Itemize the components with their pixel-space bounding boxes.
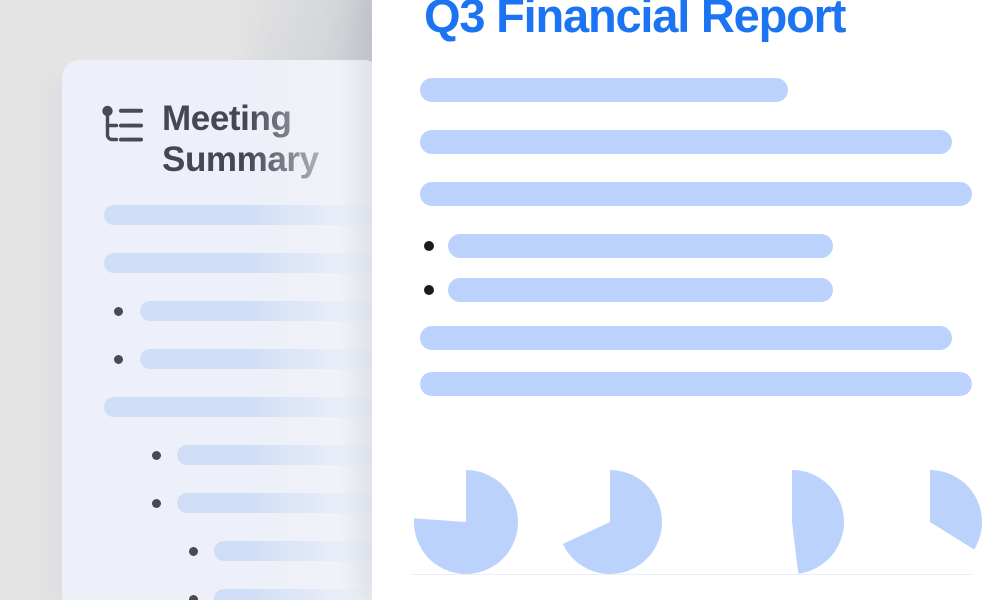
pie-slice — [930, 470, 982, 550]
report-title: Q3 Financial Report — [424, 0, 845, 43]
text-placeholder-bar — [214, 589, 372, 600]
pie-chart-2 — [558, 470, 662, 574]
meeting-summary-header: Meeting Summary — [98, 98, 382, 181]
list-item — [372, 78, 1000, 102]
list-item — [62, 493, 382, 513]
list-item — [62, 253, 382, 273]
list-item — [372, 234, 1000, 258]
pie-chart-row — [372, 446, 1000, 556]
text-placeholder-bar — [420, 326, 952, 350]
text-placeholder-bar — [420, 130, 952, 154]
text-placeholder-bar — [214, 541, 372, 561]
list-item — [372, 326, 1000, 350]
list-item — [62, 445, 382, 465]
page-divider — [412, 574, 972, 575]
bullet-icon — [152, 451, 161, 460]
list-item — [372, 372, 1000, 396]
bullet-icon — [152, 499, 161, 508]
financial-report-page[interactable]: Q3 Financial Report — [372, 0, 1000, 600]
text-placeholder-bar — [104, 397, 372, 417]
text-placeholder-bar — [140, 301, 372, 321]
text-placeholder-bar — [104, 205, 372, 225]
meeting-summary-card[interactable]: Meeting Summary — [62, 60, 382, 600]
pie-slice — [792, 470, 844, 574]
bullet-icon — [189, 547, 198, 556]
text-placeholder-bar — [177, 493, 372, 513]
list-tree-icon — [98, 102, 144, 148]
pie-chart-4 — [878, 470, 982, 574]
list-item — [372, 278, 1000, 302]
list-item — [62, 541, 382, 561]
list-item — [372, 182, 1000, 206]
screenshot-canvas: Meeting Summary Q3 Financial Report — [0, 0, 1000, 600]
text-placeholder-bar — [177, 445, 372, 465]
bullet-icon — [424, 241, 434, 251]
bullet-icon — [114, 355, 123, 364]
list-item — [62, 589, 382, 600]
text-placeholder-bar — [420, 182, 972, 206]
text-placeholder-bar — [448, 234, 833, 258]
list-item — [372, 130, 1000, 154]
text-placeholder-bar — [420, 78, 788, 102]
bullet-icon — [424, 285, 434, 295]
text-placeholder-bar — [420, 372, 972, 396]
pie-slice — [414, 470, 518, 574]
pie-slice — [563, 470, 662, 574]
list-item — [62, 301, 382, 321]
meeting-summary-card-body: Meeting Summary — [62, 60, 382, 600]
list-item — [62, 205, 382, 225]
bullet-icon — [189, 595, 198, 600]
text-placeholder-bar — [448, 278, 833, 302]
pie-chart-1 — [414, 470, 518, 574]
pie-chart-3 — [740, 470, 844, 574]
meeting-summary-title: Meeting Summary — [162, 98, 319, 181]
bullet-icon — [114, 307, 123, 316]
text-placeholder-bar — [140, 349, 372, 369]
text-placeholder-bar — [104, 253, 372, 273]
list-item — [62, 349, 382, 369]
list-item — [62, 397, 382, 417]
